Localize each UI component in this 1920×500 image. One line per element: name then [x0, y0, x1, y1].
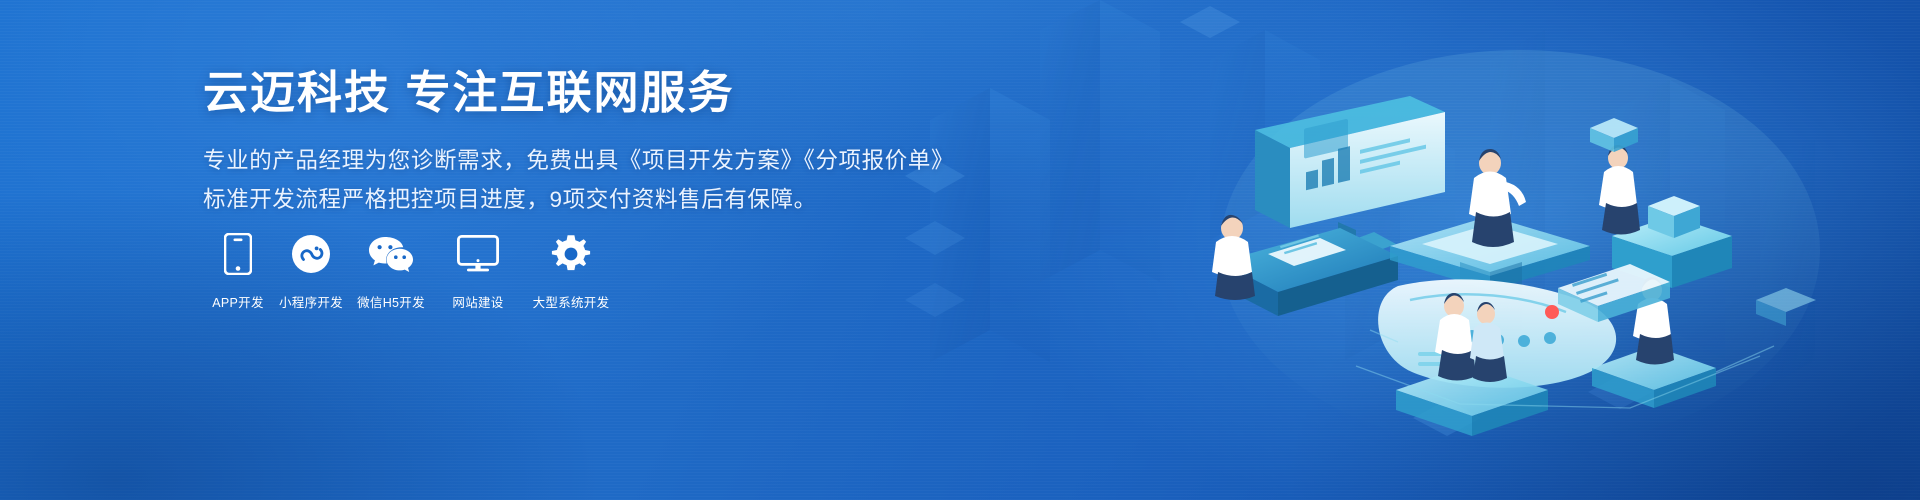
- monitor-icon: [457, 232, 499, 276]
- service-item-website[interactable]: 网站建设: [436, 232, 520, 311]
- isometric-tech-illustration: [1160, 0, 1920, 500]
- service-label-website: 网站建设: [452, 292, 503, 311]
- hero-banner: 云迈科技 专注互联网服务 专业的产品经理为您诊断需求，免费出具《项目开发方案》《…: [0, 0, 1920, 500]
- service-label-large-system: 大型系统开发: [533, 292, 610, 311]
- service-item-app[interactable]: APP开发: [203, 232, 273, 311]
- service-label-wechat-h5: 微信H5开发: [357, 292, 425, 311]
- service-item-large-system[interactable]: 大型系统开发: [523, 232, 619, 311]
- mobile-phone-icon: [224, 232, 252, 276]
- hero-subtitle-line-1: 专业的产品经理为您诊断需求，免费出具《项目开发方案》《分项报价单》: [203, 141, 1103, 180]
- gear-icon: [550, 232, 592, 276]
- mini-program-icon: [291, 232, 331, 276]
- page-title: 云迈科技 专注互联网服务: [203, 66, 1103, 119]
- service-item-mini-program[interactable]: 小程序开发: [276, 232, 346, 311]
- service-label-app: APP开发: [212, 292, 264, 311]
- hero-subtitle: 专业的产品经理为您诊断需求，免费出具《项目开发方案》《分项报价单》 标准开发流程…: [203, 141, 1103, 219]
- service-item-wechat-h5[interactable]: 微信H5开发: [349, 232, 433, 311]
- hero-subtitle-line-2: 标准开发流程严格把控项目进度，9项交付资料售后有保障。: [203, 180, 1103, 219]
- hero-text-block: 云迈科技 专注互联网服务 专业的产品经理为您诊断需求，免费出具《项目开发方案》《…: [203, 66, 1103, 219]
- service-label-mini-program: 小程序开发: [279, 292, 343, 311]
- service-list: APP开发 小程序开发: [203, 232, 622, 311]
- wechat-icon: [368, 232, 414, 276]
